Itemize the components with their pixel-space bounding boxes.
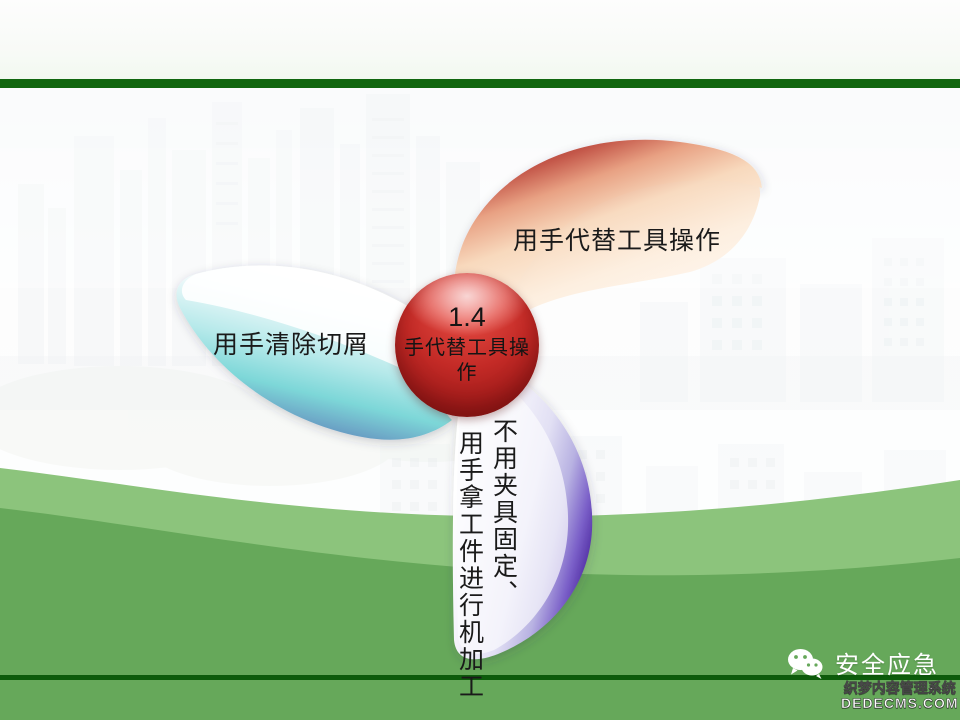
brand-lockup: 安全应急 — [786, 645, 939, 680]
wechat-icon — [786, 647, 826, 679]
slide-canvas: 用手代替工具操作 用手清除切屑 不用夹具固定、 用手拿工件进行机加工 1.4 手… — [0, 0, 960, 720]
center-hub-sphere: 1.4 手代替工具操作 — [395, 273, 539, 417]
top-margin — [0, 0, 960, 79]
petal-label-top: 用手代替工具操作 — [513, 226, 721, 257]
top-green-rule — [0, 79, 960, 88]
hub-label: 手代替工具操作 — [404, 336, 530, 386]
petal-label-bottom-line1: 不用夹具固定、 — [489, 418, 517, 607]
watermark: 织梦内容管理系统 DEDECMS.COM — [841, 681, 959, 710]
hub-number: 1.4 — [448, 304, 486, 331]
brand-name: 安全应急 — [835, 645, 939, 680]
watermark-en: DEDECMS.COM — [841, 696, 959, 711]
petal-label-bottom-line2: 用手拿工件进行机加工 — [455, 430, 483, 700]
watermark-cn: 织梦内容管理系统 — [841, 681, 959, 696]
petal-label-left: 用手清除切屑 — [213, 330, 369, 361]
center-hub-content: 1.4 手代替工具操作 — [395, 273, 539, 417]
